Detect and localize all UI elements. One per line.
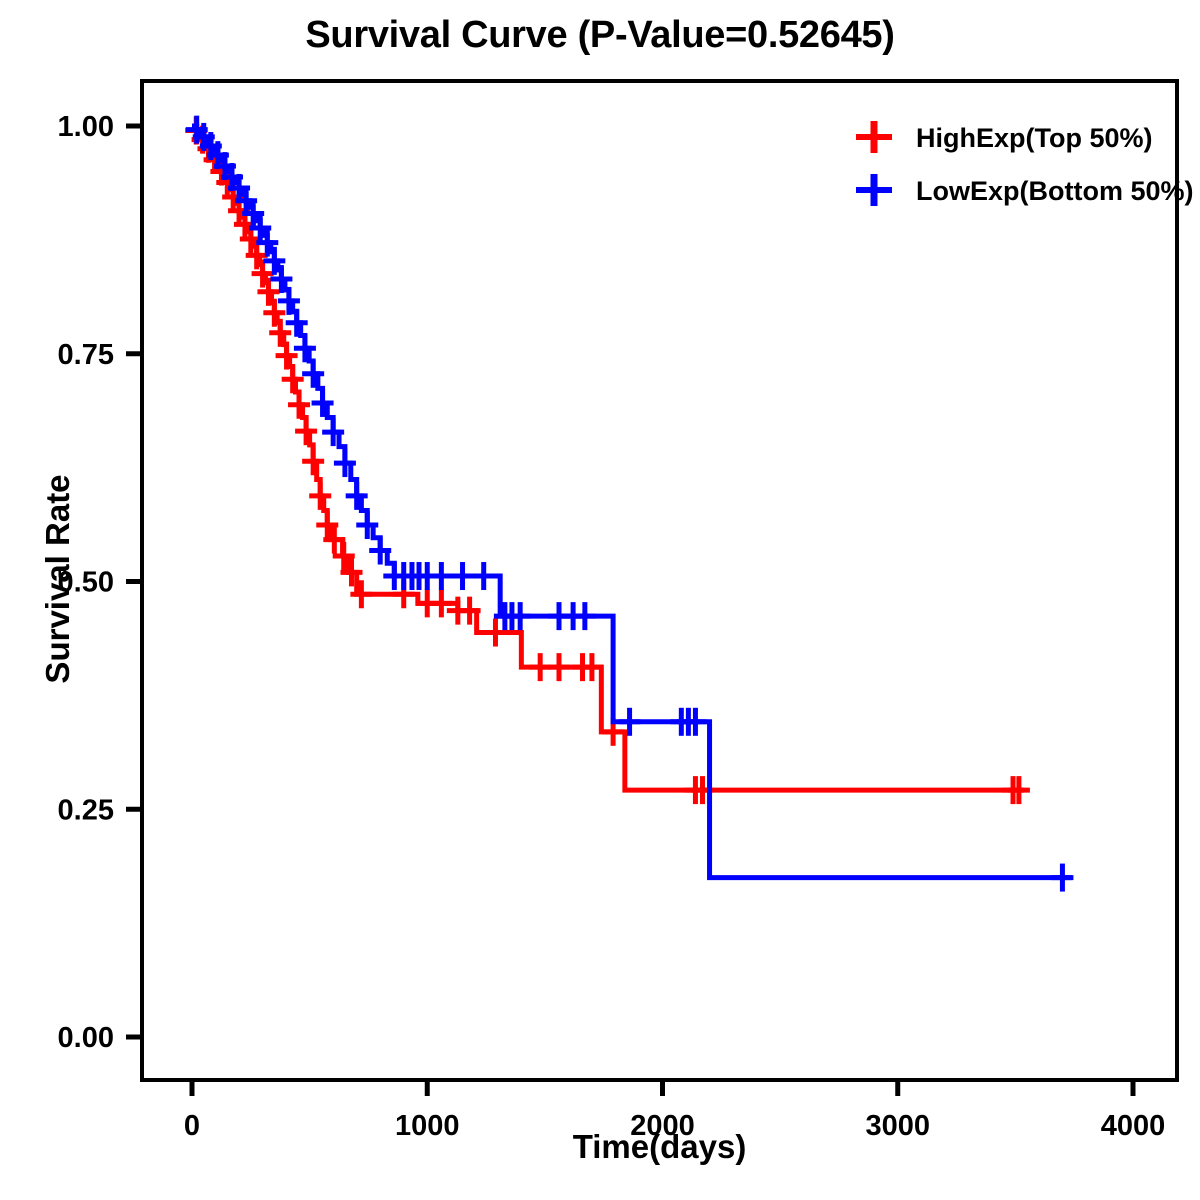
censor-plus-marker xyxy=(452,562,474,590)
censor-plus-marker xyxy=(346,482,368,510)
censor-plus-marker xyxy=(302,447,324,475)
x-tick-label: 1000 xyxy=(395,1110,460,1142)
survival-series-high-exp xyxy=(185,117,1030,805)
censor-plus-marker xyxy=(529,653,551,681)
censor-plus-marker xyxy=(294,334,316,362)
censor-plus-marker xyxy=(288,391,310,419)
series-lines xyxy=(185,116,1073,892)
plus-marker xyxy=(856,174,892,206)
plot-area: 01000200030004000 0.000.250.500.751.00 H… xyxy=(0,0,1200,1200)
legend-entry[interactable]: LowExp(Bottom 50%) xyxy=(856,174,1194,206)
y-axis-ticks: 0.000.250.500.751.00 xyxy=(58,111,142,1054)
censor-plus-marker xyxy=(430,589,452,617)
x-tick-label: 0 xyxy=(184,1110,200,1142)
survival-curve-figure: Survival Curve (P-Value=0.52645) Surviva… xyxy=(0,0,1200,1200)
x-axis-ticks: 01000200030004000 xyxy=(184,1080,1165,1142)
y-tick-label: 1.00 xyxy=(58,111,114,143)
x-tick-label: 2000 xyxy=(630,1110,695,1142)
y-tick-label: 0.50 xyxy=(58,567,114,599)
censor-plus-marker xyxy=(548,653,570,681)
legend-label: LowExp(Bottom 50%) xyxy=(916,176,1194,206)
legend-entry[interactable]: HighExp(Top 50%) xyxy=(856,121,1153,153)
censor-plus-marker xyxy=(295,417,317,445)
axis-frame xyxy=(142,81,1177,1080)
y-tick-label: 0.75 xyxy=(58,339,114,371)
censor-plus-marker xyxy=(574,602,596,630)
x-tick-label: 3000 xyxy=(865,1110,930,1142)
censor-plus-marker xyxy=(302,360,324,388)
plus-marker xyxy=(856,121,892,153)
censor-plus-marker xyxy=(1051,864,1073,892)
censor-plus-marker xyxy=(312,389,334,417)
censor-plus-marker xyxy=(473,562,495,590)
y-tick-label: 0.00 xyxy=(58,1022,114,1054)
censor-plus-marker xyxy=(430,562,452,590)
censor-plus-marker xyxy=(309,482,331,510)
legend-label: HighExp(Top 50%) xyxy=(916,123,1153,153)
y-tick-label: 0.25 xyxy=(58,794,114,826)
x-tick-label: 4000 xyxy=(1101,1110,1166,1142)
chart-legend: HighExp(Top 50%)LowExp(Bottom 50%) xyxy=(856,121,1194,206)
